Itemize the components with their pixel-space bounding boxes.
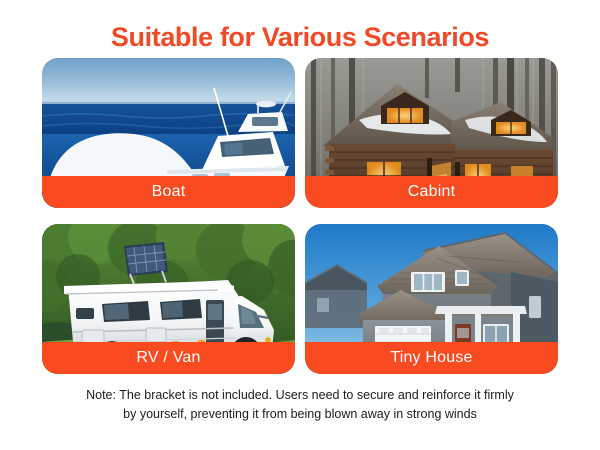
disclaimer-note-line-1: Note: The bracket is not included. Users… — [30, 386, 570, 405]
scenario-card-cabin[interactable]: Cabint — [305, 58, 558, 208]
disclaimer-note-line-2: by yourself, preventing it from being bl… — [30, 405, 570, 424]
scenario-label-rv: RV / Van — [42, 342, 295, 374]
scenario-label-tiny-house: Tiny House — [305, 342, 558, 374]
scenario-label-cabin: Cabint — [305, 176, 558, 208]
disclaimer-note: Note: The bracket is not included. Users… — [30, 386, 570, 424]
scenario-label-boat: Boat — [42, 176, 295, 208]
scenario-card-boat[interactable]: Boat — [42, 58, 295, 208]
scenario-card-tiny-house[interactable]: Tiny House — [305, 224, 558, 374]
scenario-card-grid: Boat — [42, 58, 558, 374]
scenario-card-rv[interactable]: RV / Van — [42, 224, 295, 374]
page-title: Suitable for Various Scenarios — [0, 22, 600, 53]
